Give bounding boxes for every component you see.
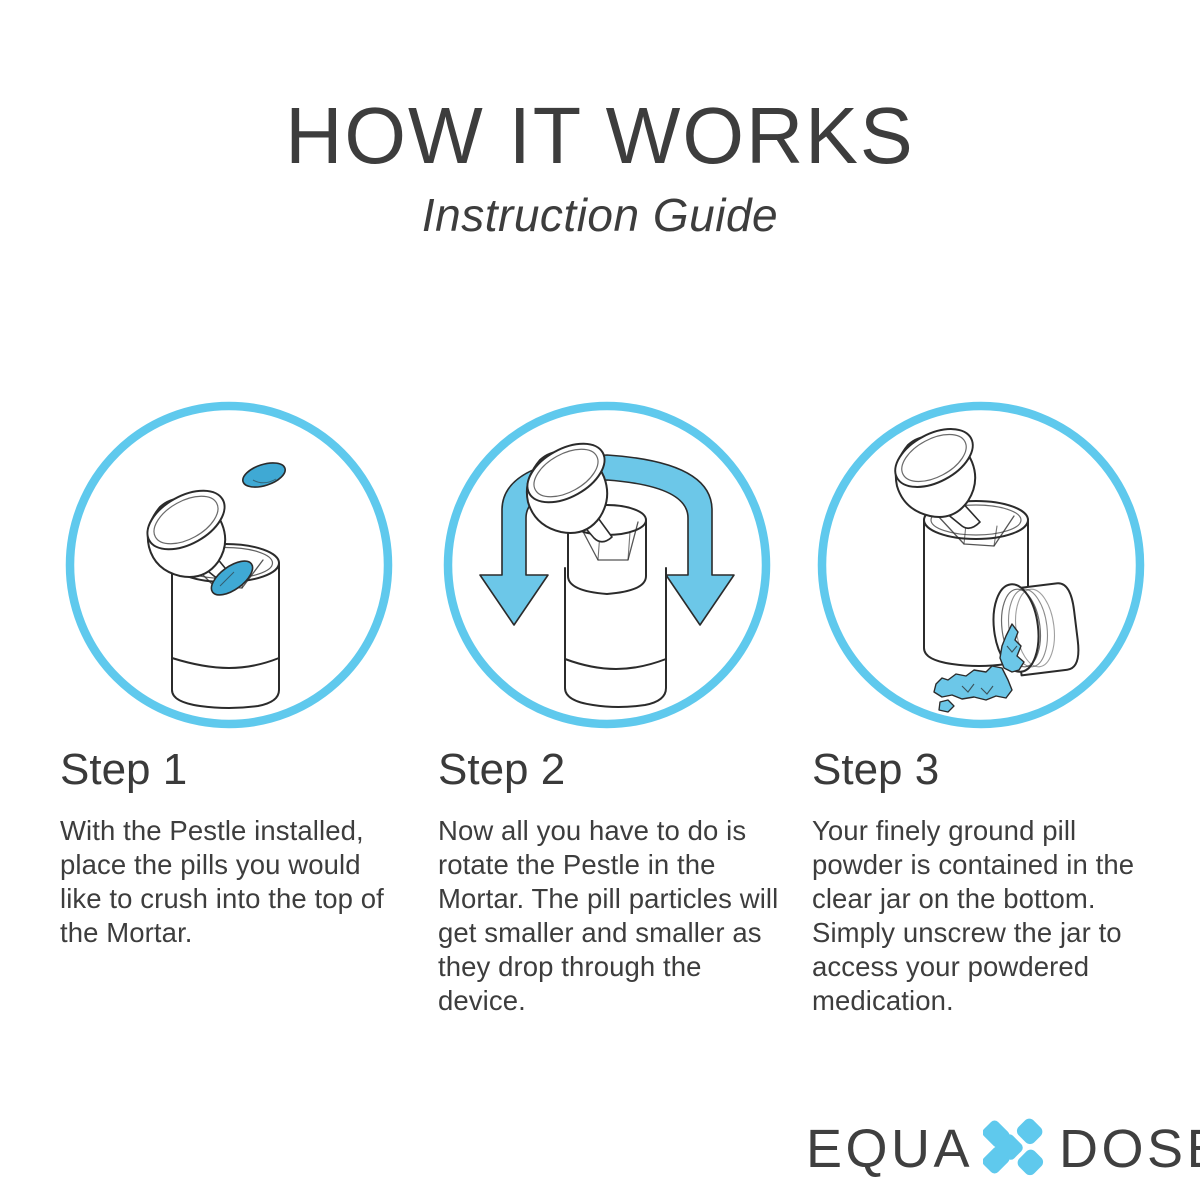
logo-word-equa: EQUA xyxy=(806,1122,973,1176)
step-title: Step 2 xyxy=(438,748,816,792)
step-column-1: Step 1 With the Pestle installed, place … xyxy=(58,400,438,950)
step-1-illustration xyxy=(64,400,394,730)
page-subtitle: Instruction Guide xyxy=(0,192,1200,238)
logo-word-dose: DOSE xyxy=(1059,1122,1200,1176)
step-2-illustration xyxy=(442,400,772,730)
step-title: Step 3 xyxy=(812,748,1190,792)
step-3-illustration xyxy=(816,400,1146,730)
step-column-3: Step 3 Your finely ground pill powder is… xyxy=(810,400,1190,1018)
steps-container: Step 1 With the Pestle installed, place … xyxy=(0,400,1200,1100)
step-body: Now all you have to do is rotate the Pes… xyxy=(438,814,788,1018)
page-title: HOW IT WORKS xyxy=(6,96,1194,176)
step-title: Step 1 xyxy=(60,748,438,792)
step-body: With the Pestle installed, place the pil… xyxy=(60,814,405,950)
instruction-guide-page: HOW IT WORKS Instruction Guide xyxy=(0,0,1200,1200)
step-column-2: Step 2 Now all you have to do is rotate … xyxy=(436,400,816,1018)
header: HOW IT WORKS Instruction Guide xyxy=(0,96,1200,238)
step-body: Your finely ground pill powder is contai… xyxy=(812,814,1164,1018)
brand-logo: EQUA DOSE xyxy=(806,1118,1200,1180)
pill-falling xyxy=(240,458,288,492)
x-cross-icon xyxy=(983,1118,1045,1181)
